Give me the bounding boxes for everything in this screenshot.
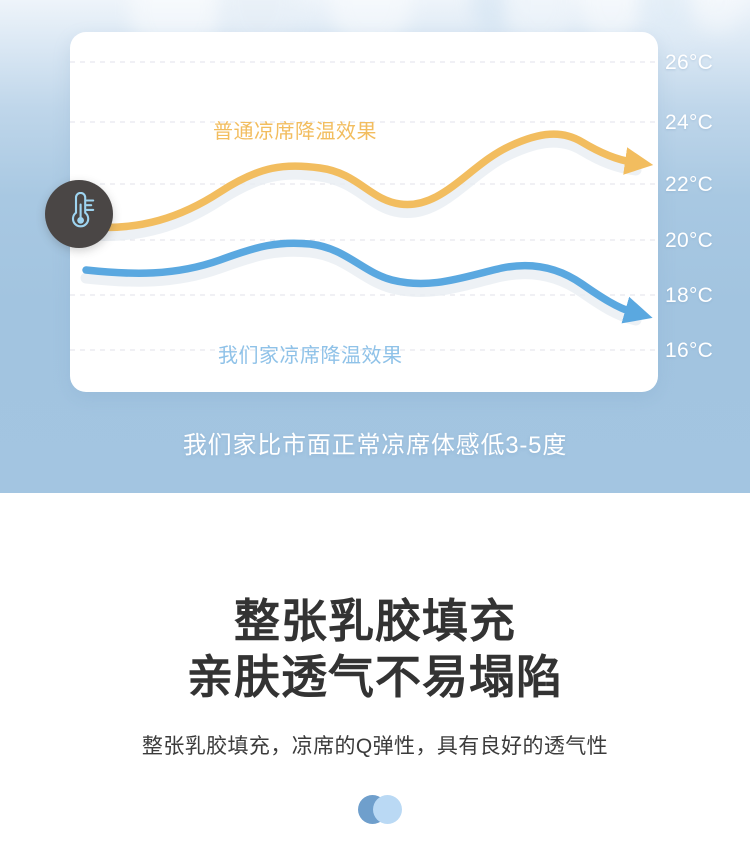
- axis-tick-20: 20°C: [665, 230, 750, 251]
- promo-headline-line2: 亲肤透气不易塌陷: [0, 649, 750, 705]
- series-line-ordinary-mat: [92, 134, 632, 227]
- series-label-ordinary-mat: 普通凉席降温效果: [213, 115, 377, 144]
- chart-gridlines: [70, 62, 658, 350]
- cooling-effect-chart-card: 普通凉席降温效果 我们家凉席降温效果: [70, 32, 658, 392]
- cooling-effect-line-chart: [70, 32, 658, 392]
- promo-subtitle: 整张乳胶填充，凉席的Q弹性，具有良好的透气性: [0, 730, 750, 760]
- carousel-dot-indicator[interactable]: [0, 793, 750, 827]
- temperature-axis: 26°C 24°C 22°C 20°C 18°C 16°C: [665, 32, 750, 392]
- dot-inactive[interactable]: [373, 795, 402, 824]
- hero-caption: 我们家比市面正常凉席体感低3-5度: [0, 425, 750, 460]
- thermometer-icon: [61, 192, 97, 237]
- series-label-our-mat: 我们家凉席降温效果: [218, 339, 403, 368]
- background-blob: [690, 0, 746, 34]
- promo-headline-line1: 整张乳胶填充: [0, 593, 750, 649]
- promo-section: 整张乳胶填充 亲肤透气不易塌陷 整张乳胶填充，凉席的Q弹性，具有良好的透气性: [0, 493, 750, 862]
- axis-tick-26: 26°C: [665, 52, 750, 73]
- axis-tick-24: 24°C: [665, 112, 750, 133]
- axis-tick-18: 18°C: [665, 285, 750, 306]
- thermometer-badge: [45, 180, 113, 248]
- hero-section: 普通凉席降温效果 我们家凉席降温效果 26°C 24°C 22°C 20°C 1…: [0, 0, 750, 493]
- axis-tick-22: 22°C: [665, 174, 750, 195]
- axis-tick-16: 16°C: [665, 340, 750, 361]
